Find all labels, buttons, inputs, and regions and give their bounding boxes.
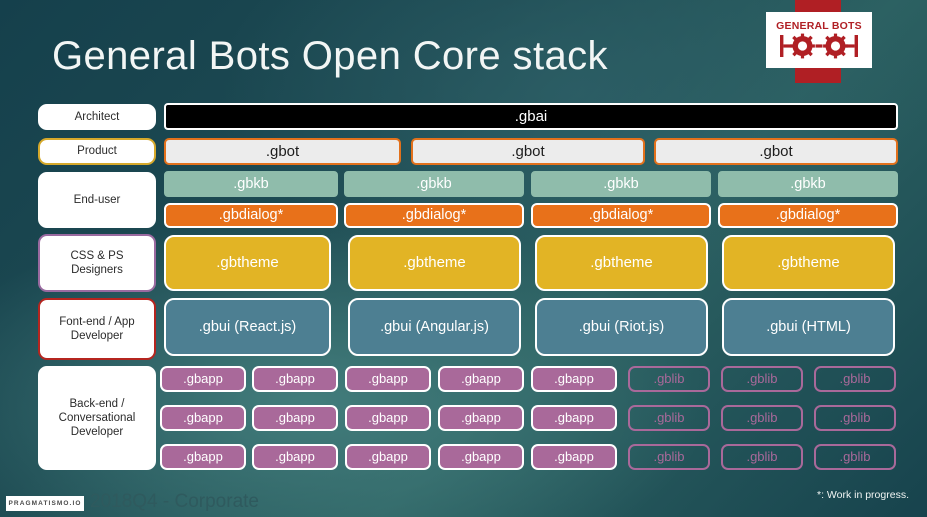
stack-box-gbkb-3[interactable]: .gbkb: [531, 171, 711, 197]
stack-box-gbtheme-4[interactable]: .gbtheme: [722, 235, 895, 291]
role-label-css-ps-designers[interactable]: CSS & PS Designers: [38, 234, 156, 292]
stack-box-gbapp-r3c4[interactable]: .gbapp: [438, 444, 524, 470]
stack-box-gbapp-r2c1[interactable]: .gbapp: [160, 405, 246, 431]
pragmatismo-wordmark: PRAGMATISMO.IO: [8, 500, 81, 507]
stack-box-gbkb-2[interactable]: .gbkb: [344, 171, 524, 197]
stack-box-gbapp-r2c3[interactable]: .gbapp: [345, 405, 431, 431]
role-label-frontend-app-developer[interactable]: Font-end / App Developer: [38, 298, 156, 360]
stack-box-gbai[interactable]: .gbai: [164, 103, 898, 130]
stack-box-gbkb-4[interactable]: .gbkb: [718, 171, 898, 197]
stack-box-gblib-r3c3[interactable]: .gblib: [814, 444, 896, 470]
stack-box-gblib-r3c1[interactable]: .gblib: [628, 444, 710, 470]
general-bots-logo: GENERAL BOTS: [766, 12, 872, 68]
stack-box-gbot-2[interactable]: .gbot: [411, 138, 645, 165]
stack-box-gbdialog-4[interactable]: .gbdialog*: [718, 203, 898, 228]
stack-box-gbapp-r3c3[interactable]: .gbapp: [345, 444, 431, 470]
footer-caption: 2018Q4 - Corporate: [90, 491, 259, 513]
stack-box-gblib-r1c2[interactable]: .gblib: [721, 366, 803, 392]
stack-box-gbui-react[interactable]: .gbui (React.js): [164, 298, 331, 356]
logo-wordmark: GENERAL BOTS: [776, 21, 862, 32]
role-label-product[interactable]: Product: [38, 138, 156, 165]
stack-box-gbtheme-2[interactable]: .gbtheme: [348, 235, 521, 291]
stack-box-gbapp-r3c2[interactable]: .gbapp: [252, 444, 338, 470]
stack-box-gblib-r2c2[interactable]: .gblib: [721, 405, 803, 431]
stack-box-gbapp-r1c2[interactable]: .gbapp: [252, 366, 338, 392]
stack-box-gbtheme-3[interactable]: .gbtheme: [535, 235, 708, 291]
stack-box-gbapp-r3c1[interactable]: .gbapp: [160, 444, 246, 470]
stack-box-gblib-r1c3[interactable]: .gblib: [814, 366, 896, 392]
page-title: General Bots Open Core stack: [52, 34, 608, 79]
pragmatismo-logo: PRAGMATISMO.IO: [6, 496, 84, 511]
stack-box-gbtheme-1[interactable]: .gbtheme: [164, 235, 331, 291]
stack-box-gbui-angular[interactable]: .gbui (Angular.js): [348, 298, 521, 356]
stack-box-gbapp-r2c5[interactable]: .gbapp: [531, 405, 617, 431]
slide-canvas: General Bots Open Core stack GENERAL BOT…: [0, 0, 927, 517]
stack-box-gbkb-1[interactable]: .gbkb: [164, 171, 338, 197]
stack-box-gbapp-r1c3[interactable]: .gbapp: [345, 366, 431, 392]
stack-box-gbapp-r3c5[interactable]: .gbapp: [531, 444, 617, 470]
stack-box-gblib-r3c2[interactable]: .gblib: [721, 444, 803, 470]
stack-box-gbapp-r1c1[interactable]: .gbapp: [160, 366, 246, 392]
stack-box-gbapp-r2c2[interactable]: .gbapp: [252, 405, 338, 431]
stack-box-gblib-r1c1[interactable]: .gblib: [628, 366, 710, 392]
gears-robot-icon: [778, 33, 860, 59]
stack-box-gbdialog-3[interactable]: .gbdialog*: [531, 203, 711, 228]
role-label-architect[interactable]: Architect: [38, 104, 156, 130]
stack-box-gbapp-r1c5[interactable]: .gbapp: [531, 366, 617, 392]
stack-box-gbdialog-1[interactable]: .gbdialog*: [164, 203, 338, 228]
stack-box-gbot-1[interactable]: .gbot: [164, 138, 401, 165]
role-label-backend-conversational-developer[interactable]: Back-end / Conversational Developer: [38, 366, 156, 470]
role-label-end-user[interactable]: End-user: [38, 172, 156, 228]
stack-box-gblib-r2c1[interactable]: .gblib: [628, 405, 710, 431]
stack-box-gbdialog-2[interactable]: .gbdialog*: [344, 203, 524, 228]
stack-box-gbui-html[interactable]: .gbui (HTML): [722, 298, 895, 356]
stack-box-gblib-r2c3[interactable]: .gblib: [814, 405, 896, 431]
stack-box-gbui-riot[interactable]: .gbui (Riot.js): [535, 298, 708, 356]
footnote-work-in-progress: *: Work in progress.: [817, 489, 909, 501]
stack-box-gbot-3[interactable]: .gbot: [654, 138, 898, 165]
stack-box-gbapp-r2c4[interactable]: .gbapp: [438, 405, 524, 431]
stack-box-gbapp-r1c4[interactable]: .gbapp: [438, 366, 524, 392]
